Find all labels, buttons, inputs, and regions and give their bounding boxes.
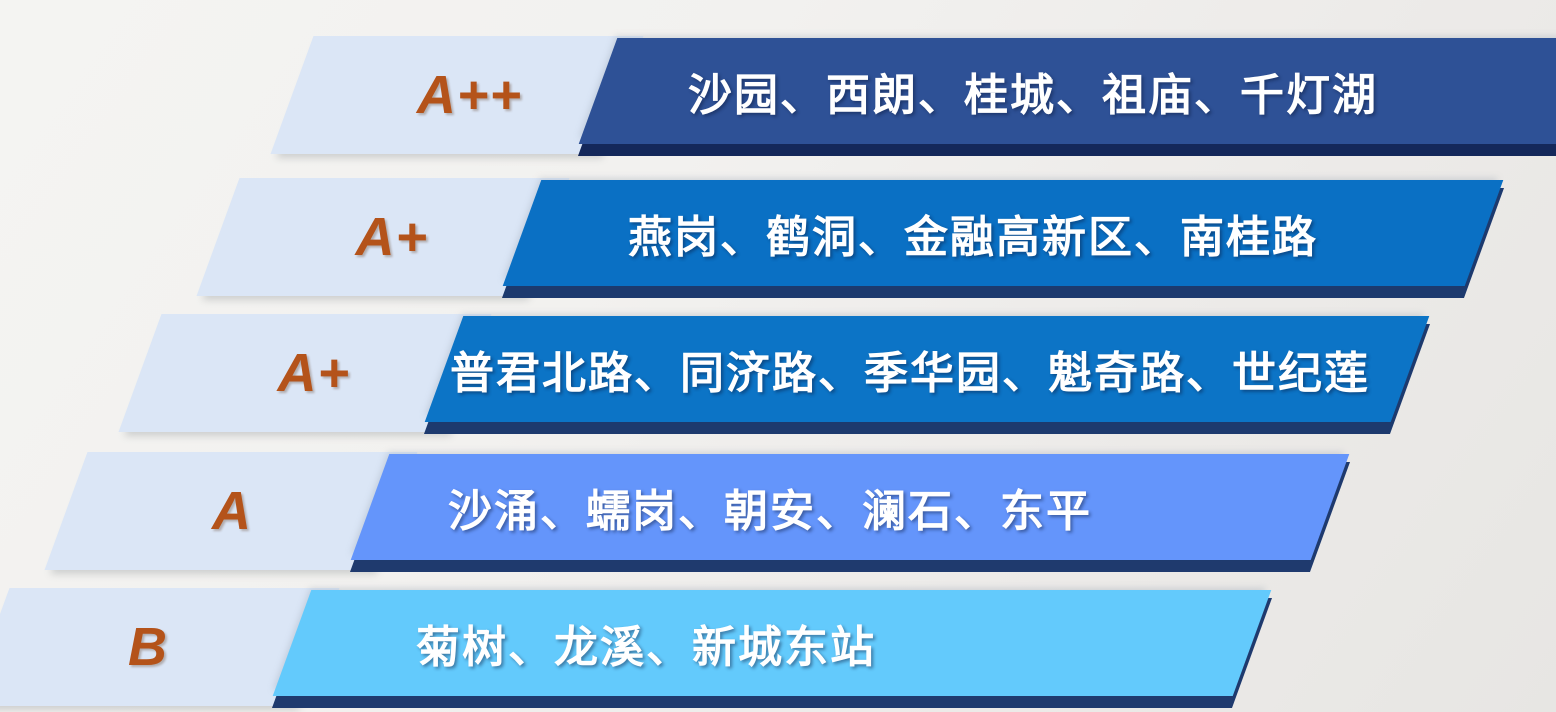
- tier-bar-2[interactable]: 燕岗、鹤洞、金融高新区、南桂路: [522, 178, 1484, 296]
- tier-row: A 沙涌、蠕岗、朝安、澜石、东平: [0, 452, 1556, 570]
- tier-row: A+ 燕岗、鹤洞、金融高新区、南桂路: [0, 178, 1556, 296]
- tier-bar-4[interactable]: 沙涌、蠕岗、朝安、澜石、东平: [370, 452, 1330, 570]
- tier-chart-stage: A++ 沙园、西朗、桂城、祖庙、千灯湖 A+ 燕岗、鹤洞、金融高新区、南桂路 A…: [0, 0, 1556, 712]
- tier-bar-face: [273, 590, 1272, 696]
- tier-row: B 菊树、龙溪、新城东站: [0, 588, 1556, 706]
- tier-bar-3[interactable]: 普君北路、同济路、季华园、魁奇路、世纪莲: [444, 314, 1410, 432]
- tier-bar-face: [425, 316, 1430, 422]
- tier-bar-face: [351, 454, 1350, 560]
- tier-bar-5[interactable]: 菊树、龙溪、新城东站: [292, 588, 1252, 706]
- tier-bar-face: [503, 180, 1504, 286]
- tier-row: A+ 普君北路、同济路、季华园、魁奇路、世纪莲: [0, 314, 1556, 432]
- tier-bar-face: [579, 38, 1556, 144]
- tier-row: A++ 沙园、西朗、桂城、祖庙、千灯湖: [0, 36, 1556, 154]
- tier-bar-1[interactable]: 沙园、西朗、桂城、祖庙、千灯湖: [598, 36, 1556, 154]
